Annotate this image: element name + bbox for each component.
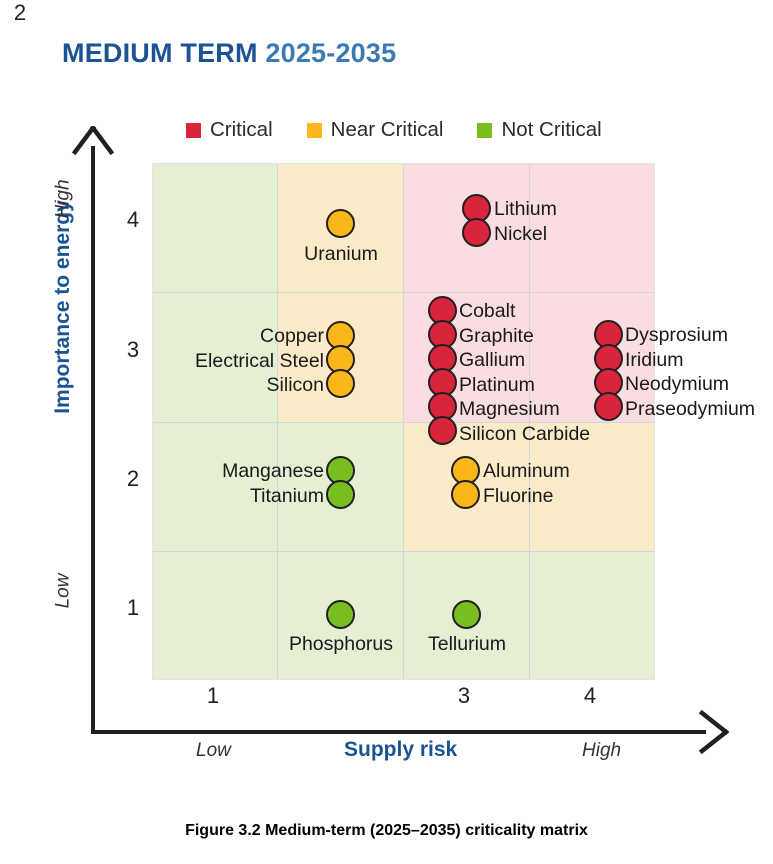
data-point-phosphorus[interactable] xyxy=(326,600,355,629)
y-axis-label: Importance to energy xyxy=(51,200,75,414)
square-swatch-icon xyxy=(307,123,322,138)
x-axis-label: Supply risk xyxy=(344,738,457,762)
data-label-copper-steel-silicon: Copper Electrical Steel Silicon xyxy=(112,324,324,398)
legend-item-label: Critical xyxy=(210,118,273,142)
page-title: MEDIUM TERM 2025-2035 xyxy=(62,38,396,69)
x-axis-line xyxy=(91,730,706,734)
x-axis-tick-2: 2 xyxy=(0,0,40,26)
data-label-manganese-titanium: Manganese Titanium xyxy=(136,459,324,508)
x-axis-arrow-icon xyxy=(698,709,732,755)
data-label-cobalt-set: Cobalt Graphite Gallium Platinum Magnesi… xyxy=(459,299,590,447)
x-axis-high-label: High xyxy=(582,740,621,762)
data-point-fluorine[interactable] xyxy=(451,480,480,509)
square-swatch-icon xyxy=(186,123,201,138)
data-point-praseodymium[interactable] xyxy=(594,392,623,421)
y-axis-high-label: High xyxy=(53,179,75,218)
x-axis-tick-4: 4 xyxy=(570,683,610,709)
legend-item-near-critical[interactable]: Near Critical xyxy=(307,118,444,142)
page-title-light: 2025-2035 xyxy=(265,38,396,68)
data-label-dysprosium-set: Dysprosium Iridium Neodymium Praseodymiu… xyxy=(625,323,755,421)
data-label-uranium: Uranium xyxy=(266,242,416,267)
gridline-horizontal-3 xyxy=(152,551,655,552)
x-axis-tick-1: 1 xyxy=(193,683,233,709)
data-point-tellurium[interactable] xyxy=(452,600,481,629)
square-swatch-icon xyxy=(477,123,492,138)
legend-item-label: Not Critical xyxy=(501,118,601,142)
data-point-silicon-carbide[interactable] xyxy=(428,416,457,445)
data-label-lithium-nickel: Lithium Nickel xyxy=(494,197,557,246)
data-point-uranium[interactable] xyxy=(326,209,355,238)
y-axis-tick-1: 1 xyxy=(118,595,148,621)
data-point-titanium[interactable] xyxy=(326,480,355,509)
y-axis-line xyxy=(91,146,95,734)
page-title-strong: MEDIUM TERM xyxy=(62,38,258,68)
x-axis-tick-3: 3 xyxy=(444,683,484,709)
data-label-aluminum-fluorine: Aluminum Fluorine xyxy=(483,459,570,508)
x-axis-low-label: Low xyxy=(196,740,231,762)
legend-item-label: Near Critical xyxy=(331,118,444,142)
data-label-tellurium: Tellurium xyxy=(391,632,543,657)
y-axis-arrow-icon xyxy=(71,126,115,160)
legend: Critical Near Critical Not Critical xyxy=(186,118,602,142)
figure-caption: Figure 3.2 Medium-term (2025–2035) criti… xyxy=(0,822,773,840)
legend-item-not-critical[interactable]: Not Critical xyxy=(477,118,601,142)
data-point-nickel[interactable] xyxy=(462,218,491,247)
legend-item-critical[interactable]: Critical xyxy=(186,118,273,142)
plot-area: Uranium Lithium Nickel Copper Electrical… xyxy=(152,163,655,680)
y-axis-low-label: Low xyxy=(52,574,74,609)
gridline-horizontal-1 xyxy=(152,292,655,293)
y-axis-tick-4: 4 xyxy=(118,207,148,233)
data-point-silicon[interactable] xyxy=(326,369,355,398)
